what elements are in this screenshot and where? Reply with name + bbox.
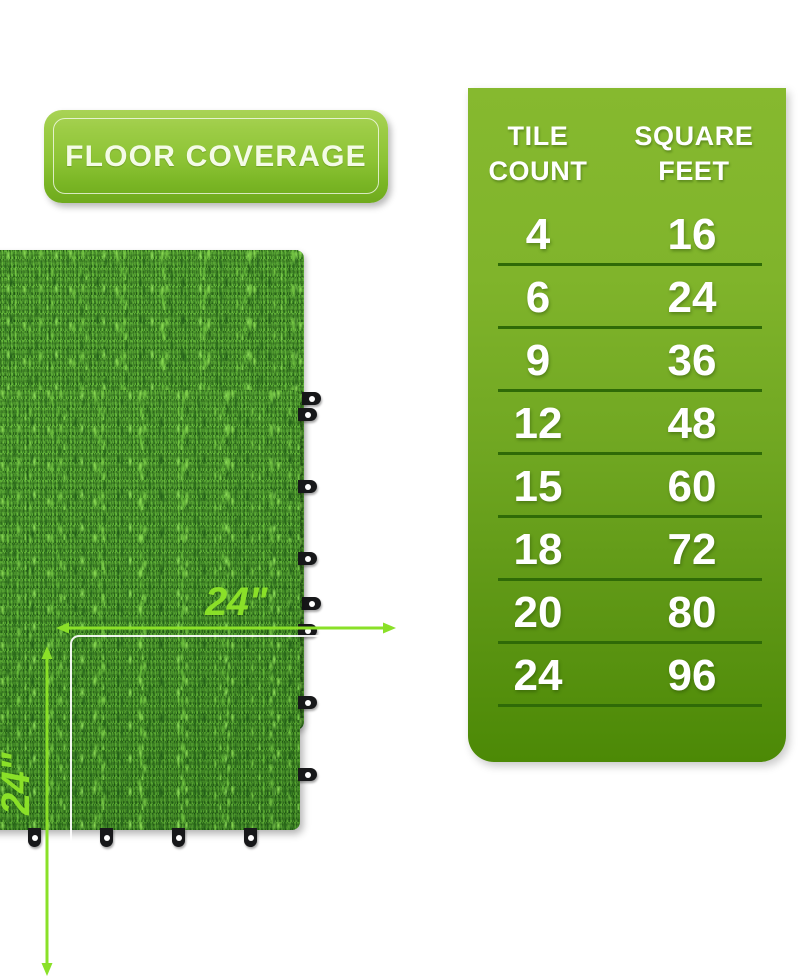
- table-row: 24 96: [468, 644, 786, 707]
- table-header-row: TILE COUNT SQUARE FEET: [468, 88, 786, 189]
- interlock-tab-icon: [298, 408, 317, 421]
- table-row: 9 36: [468, 329, 786, 392]
- table-row: 4 16: [468, 203, 786, 266]
- badge-label: FLOOR COVERAGE: [65, 140, 367, 174]
- cell-tile-count: 9: [468, 339, 608, 383]
- cell-tile-count: 6: [468, 276, 608, 320]
- cell-tile-count: 15: [468, 465, 608, 509]
- coverage-table-panel: TILE COUNT SQUARE FEET 4 16 6 24 9 36 12…: [468, 88, 786, 762]
- interlock-tab-icon: [100, 828, 113, 847]
- table-row: 12 48: [468, 392, 786, 455]
- table-row: 15 60: [468, 455, 786, 518]
- cell-tile-count: 12: [468, 402, 608, 446]
- table-row: 6 24: [468, 266, 786, 329]
- interlock-tab-icon: [298, 480, 317, 493]
- interlock-tab-icon: [302, 392, 321, 405]
- floor-coverage-badge: FLOOR COVERAGE: [44, 110, 388, 203]
- interlock-tab-icon: [172, 828, 185, 847]
- cell-square-feet: 16: [608, 213, 786, 257]
- column-header-tile-count: TILE COUNT: [468, 119, 608, 189]
- cell-tile-count: 4: [468, 213, 608, 257]
- interlock-tab-icon: [298, 768, 317, 781]
- cell-square-feet: 96: [608, 654, 786, 698]
- table-row: 18 72: [468, 518, 786, 581]
- cell-tile-count: 20: [468, 591, 608, 635]
- cell-square-feet: 24: [608, 276, 786, 320]
- table-row: 20 80: [468, 581, 786, 644]
- cell-square-feet: 80: [608, 591, 786, 635]
- cell-square-feet: 36: [608, 339, 786, 383]
- cell-square-feet: 60: [608, 465, 786, 509]
- cell-square-feet: 48: [608, 402, 786, 446]
- interlock-tab-icon: [244, 828, 257, 847]
- height-dimension-arrow-icon: [40, 646, 54, 976]
- height-dimension-label: 24": [0, 753, 39, 815]
- interlock-tab-icon: [298, 552, 317, 565]
- turf-tile-illustration: 24" 24": [0, 250, 440, 860]
- interlock-tab-icon: [298, 696, 317, 709]
- cell-tile-count: 18: [468, 528, 608, 572]
- cell-tile-count: 24: [468, 654, 608, 698]
- table-body: 4 16 6 24 9 36 12 48 15 60 18 72 20 80 2…: [468, 203, 786, 707]
- column-header-square-feet: SQUARE FEET: [608, 119, 786, 189]
- cell-square-feet: 72: [608, 528, 786, 572]
- interlock-tab-icon: [302, 597, 321, 610]
- width-dimension-label: 24": [205, 580, 267, 625]
